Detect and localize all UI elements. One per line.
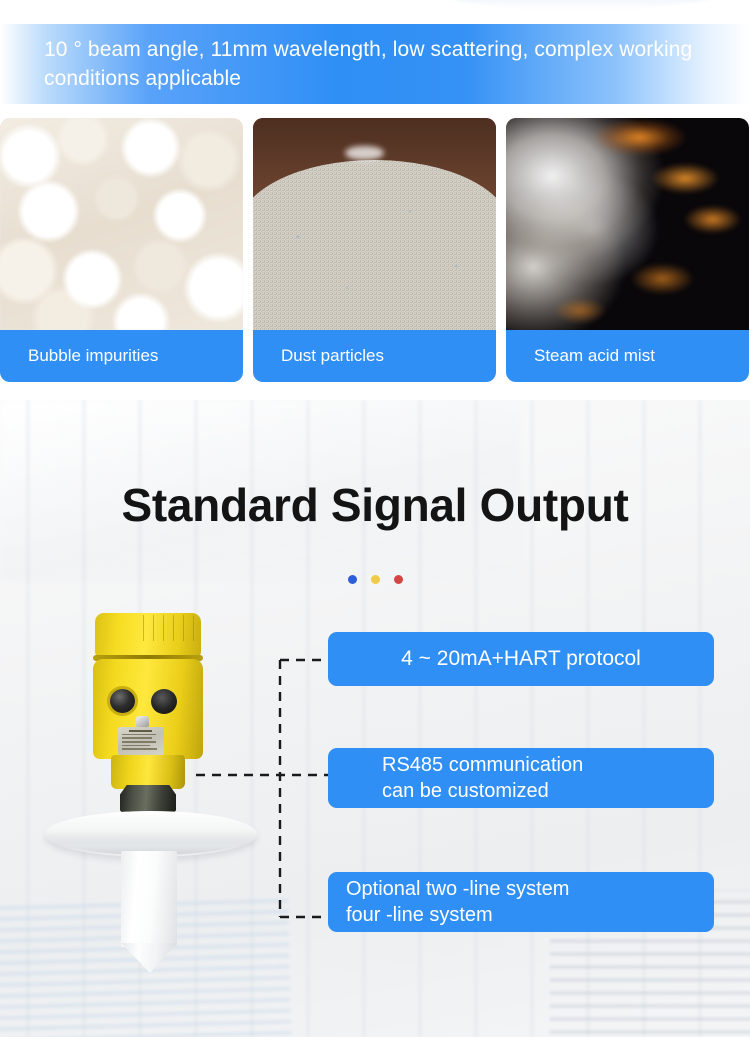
dot-yellow-icon — [371, 575, 380, 584]
ember-glow — [521, 118, 749, 330]
bubble-impurities-photo — [0, 118, 243, 330]
callout-text-block: RS485 communication can be customized — [382, 752, 714, 804]
product-detail-page: 10 ° beam angle, 11mm wavelength, low sc… — [0, 0, 750, 1037]
steam-acid-mist-photo — [506, 118, 749, 330]
granule-pile — [253, 160, 496, 330]
connector-lines — [0, 605, 360, 935]
feature-card-bubble-impurities[interactable]: Bubble impurities — [0, 118, 243, 382]
cotton-fiber-texture — [0, 118, 243, 330]
feature-card-dust-particles[interactable]: Dust particles — [253, 118, 496, 382]
feature-card-steam-acid-mist[interactable]: Steam acid mist — [506, 118, 749, 382]
dust-particles-photo — [253, 118, 496, 330]
header-banner: 10 ° beam angle, 11mm wavelength, low sc… — [0, 24, 750, 104]
callout-rs485[interactable]: RS485 communication can be customized — [328, 748, 714, 808]
feature-card-row: Bubble impurities Dust particles Steam a… — [0, 118, 750, 382]
signal-output-section: Standard Signal Output — [0, 400, 750, 1037]
callout-wire-system[interactable]: Optional two -line system four -line sys… — [328, 872, 714, 932]
decorative-arc — [430, 0, 730, 10]
dot-red-icon — [394, 575, 403, 584]
top-sliver — [0, 0, 750, 24]
section-title: Standard Signal Output — [0, 478, 750, 532]
granules-texture — [253, 118, 496, 330]
steam-plume-texture — [506, 118, 749, 330]
callout-line-1: RS485 communication — [382, 754, 583, 776]
feature-card-label: Steam acid mist — [506, 330, 749, 382]
banner-text: 10 ° beam angle, 11mm wavelength, low sc… — [0, 35, 750, 93]
feature-card-label: Dust particles — [253, 330, 496, 382]
meter-antenna-tip — [121, 943, 177, 973]
callout-line-1: Optional two -line system — [346, 878, 569, 900]
callout-hart-protocol[interactable]: 4 ~ 20mA+HART protocol — [328, 632, 714, 686]
dot-blue-icon — [348, 575, 357, 584]
callout-text-block: Optional two -line system four -line sys… — [346, 876, 714, 928]
decorative-dots — [0, 575, 750, 584]
callout-line-2: can be customized — [382, 778, 714, 804]
callout-line-2: four -line system — [346, 902, 714, 928]
feature-card-label: Bubble impurities — [0, 330, 243, 382]
callout-text: 4 ~ 20mA+HART protocol — [328, 647, 714, 671]
